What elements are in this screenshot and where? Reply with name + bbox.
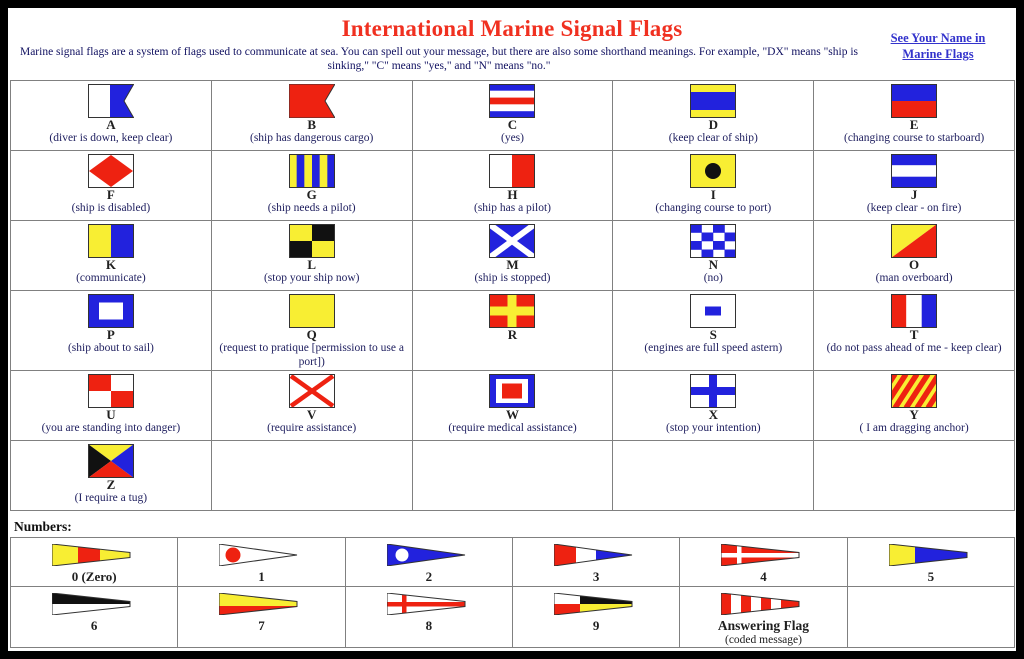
- flag-p-blue-white-rectangle-icon: [12, 293, 210, 329]
- flag-cell-h[interactable]: H(ship has a pilot): [412, 150, 613, 220]
- flag-meaning: (no): [614, 272, 812, 285]
- flag-n8-white-red-cross-icon: [347, 590, 511, 618]
- number-flag-label: 1: [179, 569, 343, 585]
- flag-n0-yellow-red-yellow-icon: [12, 541, 176, 569]
- flag-cell-u[interactable]: U(you are standing into danger): [11, 370, 212, 440]
- flag-cell-e[interactable]: E(changing course to starboard): [814, 80, 1015, 150]
- flag-t-red-white-blue-vertical-icon: [815, 293, 1013, 329]
- flag-cell-a[interactable]: A(diver is down, keep clear): [11, 80, 212, 150]
- flag-n2-blue-white-circle-icon: [347, 541, 511, 569]
- number-flag-cell[interactable]: 1: [178, 537, 345, 586]
- blank-cell: [412, 440, 613, 510]
- flag-n4-red-white-cross-icon: [681, 541, 845, 569]
- flag-l-yellow-black-quarters-icon: [213, 223, 411, 259]
- flag-meaning: (yes): [414, 132, 612, 145]
- flag-meaning: (ship about to sail): [12, 342, 210, 355]
- page-canvas: International Marine Signal Flags Marine…: [8, 8, 1016, 651]
- flag-code: M: [414, 258, 612, 272]
- flag-n-blue-white-checker-icon: [614, 223, 812, 259]
- flag-i-yellow-black-circle-icon: [614, 153, 812, 189]
- number-flag-label: 7: [179, 618, 343, 634]
- flag-code: U: [12, 408, 210, 422]
- flag-cell-n[interactable]: N(no): [613, 220, 814, 290]
- flag-r-red-yellow-cross-icon: [414, 293, 612, 329]
- number-flag-label: 2: [347, 569, 511, 585]
- number-flag-label: 9: [514, 618, 678, 634]
- table-row: A(diver is down, keep clear)B(ship has d…: [11, 80, 1015, 150]
- flag-meaning: (I require a tug): [12, 492, 210, 505]
- flag-cell-l[interactable]: L(stop your ship now): [211, 220, 412, 290]
- flag-meaning: (changing course to starboard): [815, 132, 1013, 145]
- flag-code: W: [414, 408, 612, 422]
- flag-m-blue-white-saltire-icon: [414, 223, 612, 259]
- flag-code: J: [815, 188, 1013, 202]
- see-your-name-link-line2: Marine Flags: [902, 47, 973, 61]
- flag-code: R: [414, 328, 612, 342]
- page-title: International Marine Signal Flags: [8, 16, 1016, 42]
- table-row: 6789Answering Flag(coded message): [11, 586, 1015, 647]
- flag-n3-red-white-blue-icon: [514, 541, 678, 569]
- flag-code: Z: [12, 478, 210, 492]
- number-flag-label: 6: [12, 618, 176, 634]
- flag-meaning: ( I am dragging anchor): [815, 422, 1013, 435]
- flag-meaning: (stop your ship now): [213, 272, 411, 285]
- flag-code: N: [614, 258, 812, 272]
- flag-w-blue-white-red-squares-icon: [414, 373, 612, 409]
- flag-cell-j[interactable]: J(keep clear - on fire): [814, 150, 1015, 220]
- flag-code: I: [614, 188, 812, 202]
- flag-n9-white-red-black-yellow-icon: [514, 590, 678, 618]
- empty-cell: [211, 440, 412, 510]
- flag-code: H: [414, 188, 612, 202]
- flag-cell-c[interactable]: C(yes): [412, 80, 613, 150]
- number-flag-label: Answering Flag: [681, 618, 845, 634]
- flag-cell-y[interactable]: Y( I am dragging anchor): [814, 370, 1015, 440]
- flag-code: V: [213, 408, 411, 422]
- flag-meaning: (do not pass ahead of me - keep clear): [815, 342, 1013, 355]
- flag-h-white-red-vertical-icon: [414, 153, 612, 189]
- flag-cell-f[interactable]: F(ship is disabled): [11, 150, 212, 220]
- flag-meaning: (require medical assistance): [414, 422, 612, 435]
- table-row: 0 (Zero)12345: [11, 537, 1015, 586]
- flag-code: G: [213, 188, 411, 202]
- flag-meaning: (keep clear of ship): [614, 132, 812, 145]
- number-flag-cell[interactable]: 3: [512, 537, 679, 586]
- flag-cell-d[interactable]: D(keep clear of ship): [613, 80, 814, 150]
- number-flag-label: 3: [514, 569, 678, 585]
- flag-code: B: [213, 118, 411, 132]
- flag-n7-yellow-red-icon: [179, 590, 343, 618]
- flag-code: L: [213, 258, 411, 272]
- flag-cell-b[interactable]: B(ship has dangerous cargo): [211, 80, 412, 150]
- table-row: F(ship is disabled)G(ship needs a pilot)…: [11, 150, 1015, 220]
- number-flags-table: 0 (Zero)123456789Answering Flag(coded me…: [10, 537, 1015, 648]
- page-subtitle: Marine signal flags are a system of flag…: [8, 45, 1016, 74]
- flag-o-yellow-red-diagonal-icon: [815, 223, 1013, 259]
- flag-meaning: (communicate): [12, 272, 210, 285]
- flag-code: C: [414, 118, 612, 132]
- empty-cell: [847, 586, 1014, 647]
- flag-ans-red-white-stripes-icon: [681, 590, 845, 618]
- flag-cell-m[interactable]: M(ship is stopped): [412, 220, 613, 290]
- blank-cell: [613, 440, 814, 510]
- flag-y-yellow-red-diagonal-stripes-icon: [815, 373, 1013, 409]
- flag-code: S: [614, 328, 812, 342]
- flag-meaning: (changing course to port): [614, 202, 812, 215]
- blank-cell: [814, 440, 1015, 510]
- flag-code: K: [12, 258, 210, 272]
- flag-meaning: (ship has a pilot): [414, 202, 612, 215]
- flag-meaning: (request to pratique [permission to use …: [213, 342, 411, 368]
- flag-e-blue-over-red-icon: [815, 83, 1013, 119]
- flag-code: E: [815, 118, 1013, 132]
- flag-cell-k[interactable]: K(communicate): [11, 220, 212, 290]
- table-row: P(ship about to sail)Q(request to pratiq…: [11, 290, 1015, 370]
- number-flag-label: 5: [849, 569, 1013, 585]
- flag-meaning: (man overboard): [815, 272, 1013, 285]
- flag-cell-q[interactable]: Q(request to pratique [permission to use…: [211, 290, 412, 370]
- flag-meaning: (stop your intention): [614, 422, 812, 435]
- number-flag-cell[interactable]: 4: [680, 537, 847, 586]
- table-row: K(communicate)L(stop your ship now)M(shi…: [11, 220, 1015, 290]
- letter-flags-table: A(diver is down, keep clear)B(ship has d…: [10, 80, 1015, 511]
- table-row: U(you are standing into danger)V(require…: [11, 370, 1015, 440]
- flag-g-vertical-yellow-blue-stripes-icon: [213, 153, 411, 189]
- flag-meaning: (engines are full speed astern): [614, 342, 812, 355]
- flag-j-blue-white-blue-icon: [815, 153, 1013, 189]
- flag-v-white-red-saltire-icon: [213, 373, 411, 409]
- flag-cell-t[interactable]: T(do not pass ahead of me - keep clear): [814, 290, 1015, 370]
- flag-cell-z[interactable]: Z(I require a tug): [11, 440, 212, 510]
- number-flag-label: 8: [347, 618, 511, 634]
- flag-cell-x[interactable]: X(stop your intention): [613, 370, 814, 440]
- number-flag-cell[interactable]: 5: [847, 537, 1014, 586]
- table-row: Z(I require a tug): [11, 440, 1015, 510]
- flag-n1-white-red-circle-icon: [179, 541, 343, 569]
- flag-a-swallowtail-white-blue-icon: [12, 83, 210, 119]
- number-flag-cell[interactable]: 2: [345, 537, 512, 586]
- number-flag-cell[interactable]: 9: [512, 586, 679, 647]
- flag-meaning: (diver is down, keep clear): [12, 132, 210, 145]
- flag-code: T: [815, 328, 1013, 342]
- number-flag-label: 0 (Zero): [12, 569, 176, 585]
- see-your-name-link-line1: See Your Name in: [891, 31, 986, 45]
- flag-f-red-diamond-on-white-icon: [12, 153, 210, 189]
- flag-code: Y: [815, 408, 1013, 422]
- number-flag-cell[interactable]: 6: [11, 586, 178, 647]
- page-header: International Marine Signal Flags Marine…: [8, 8, 1016, 80]
- flag-cell-r[interactable]: R: [412, 290, 613, 370]
- number-flag-cell[interactable]: 0 (Zero): [11, 537, 178, 586]
- flag-cell-o[interactable]: O(man overboard): [814, 220, 1015, 290]
- flag-cell-i[interactable]: I(changing course to port): [613, 150, 814, 220]
- flag-meaning: (ship is disabled): [12, 202, 210, 215]
- number-flag-cell[interactable]: Answering Flag(coded message): [680, 586, 847, 647]
- number-flag-label: 4: [681, 569, 845, 585]
- flag-n5-yellow-blue-icon: [849, 541, 1013, 569]
- flag-k-yellow-blue-vertical-icon: [12, 223, 210, 259]
- flag-meaning: (keep clear - on fire): [815, 202, 1013, 215]
- flag-cell-w[interactable]: W(require medical assistance): [412, 370, 613, 440]
- flag-code: D: [614, 118, 812, 132]
- flag-s-white-blue-rectangle-icon: [614, 293, 812, 329]
- flag-code: O: [815, 258, 1013, 272]
- flag-u-red-white-quarters-icon: [12, 373, 210, 409]
- see-your-name-link[interactable]: See Your Name in Marine Flags: [868, 30, 1008, 63]
- flag-code: A: [12, 118, 210, 132]
- number-flag-cell[interactable]: 8: [345, 586, 512, 647]
- flag-meaning: (ship needs a pilot): [213, 202, 411, 215]
- flag-n6-black-white-icon: [12, 590, 176, 618]
- flag-meaning: (ship has dangerous cargo): [213, 132, 411, 145]
- flag-cell-v[interactable]: V(require assistance): [211, 370, 412, 440]
- flag-c-stripes-blue-white-red-white-blue-icon: [414, 83, 612, 119]
- flag-cell-p[interactable]: P(ship about to sail): [11, 290, 212, 370]
- flag-z-four-triangles-icon: [12, 443, 210, 479]
- flag-cell-s[interactable]: S(engines are full speed astern): [613, 290, 814, 370]
- flag-b-swallowtail-red-icon: [213, 83, 411, 119]
- flag-code: X: [614, 408, 812, 422]
- number-flag-sub: (coded message): [681, 634, 845, 646]
- flag-meaning: (you are standing into danger): [12, 422, 210, 435]
- flag-code: P: [12, 328, 210, 342]
- flag-code: F: [12, 188, 210, 202]
- number-flag-cell[interactable]: 7: [178, 586, 345, 647]
- flag-d-stripes-yellow-blue-yellow-icon: [614, 83, 812, 119]
- flag-cell-g[interactable]: G(ship needs a pilot): [211, 150, 412, 220]
- flag-q-all-yellow-icon: [213, 293, 411, 329]
- numbers-section-label: Numbers:: [14, 519, 1016, 535]
- flag-x-white-blue-cross-icon: [614, 373, 812, 409]
- flag-meaning: (require assistance): [213, 422, 411, 435]
- flag-code: Q: [213, 328, 411, 342]
- flag-meaning: (ship is stopped): [414, 272, 612, 285]
